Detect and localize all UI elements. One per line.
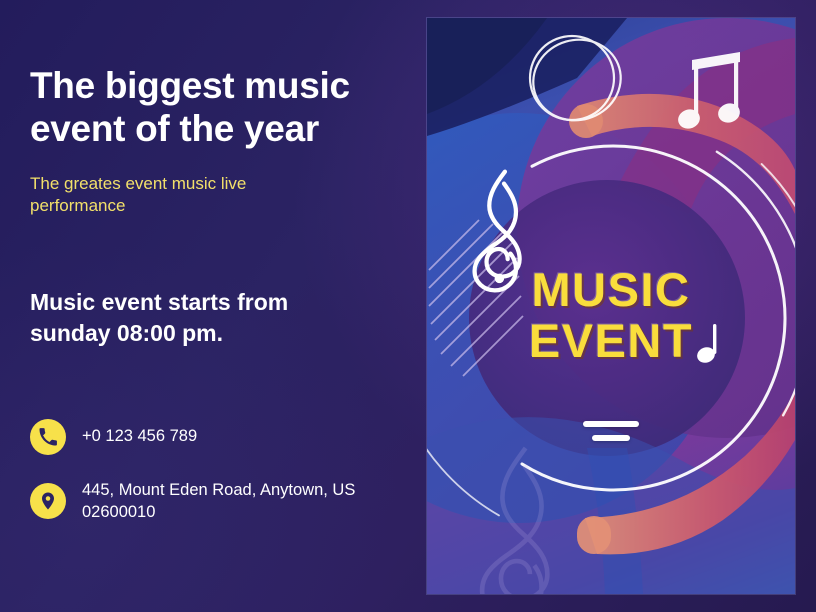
event-time-text: Music event starts from sunday 08:00 pm. — [30, 287, 370, 348]
contact-row-address[interactable]: 445, Mount Eden Road, Anytown, US 026000… — [30, 479, 390, 524]
location-pin-icon — [30, 483, 66, 519]
subtitle-text: The greates event music live performance — [30, 173, 330, 218]
contact-row-phone[interactable]: +0 123 456 789 — [30, 419, 390, 455]
music-event-poster[interactable]: MUSIC EVENT — [427, 18, 795, 594]
left-info-panel: The biggest music event of the year The … — [0, 0, 420, 612]
phone-number: +0 123 456 789 — [82, 425, 197, 447]
beamed-eighth-notes-icon — [427, 18, 795, 594]
title-underline-dashes — [427, 421, 795, 441]
contact-list: +0 123 456 789 445, Mount Eden Road, Any… — [30, 419, 390, 524]
poster-artwork: MUSIC EVENT — [427, 18, 795, 594]
poster-canvas: The biggest music event of the year The … — [0, 0, 816, 612]
page-title: The biggest music event of the year — [30, 64, 370, 151]
phone-icon — [30, 419, 66, 455]
address-text: 445, Mount Eden Road, Anytown, US 026000… — [82, 479, 390, 524]
dash-long — [583, 421, 639, 427]
dash-short — [592, 435, 630, 441]
